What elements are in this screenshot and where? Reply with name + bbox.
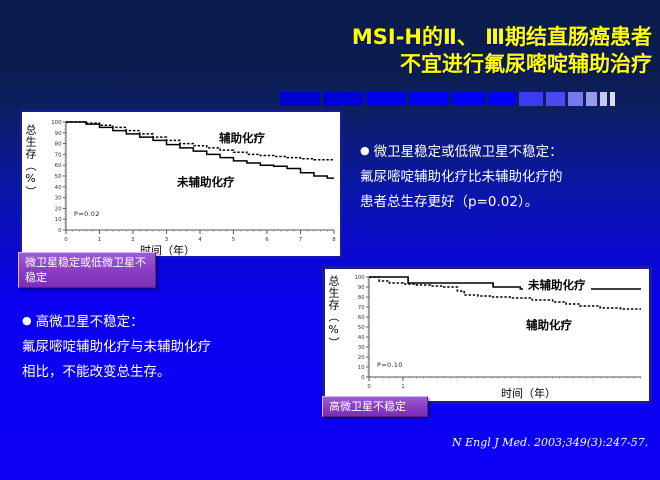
- chart2-axes: 010203040506070809010001: [355, 275, 641, 390]
- caption-tag-msi-stable: 微卫星稳定或低微卫星不稳定: [18, 252, 156, 288]
- svg-text:1: 1: [401, 384, 404, 390]
- svg-text:70: 70: [358, 305, 365, 311]
- bullet-dot-icon: ●: [22, 308, 32, 333]
- svg-text:70: 70: [55, 152, 62, 158]
- decor-block-1: [323, 92, 363, 106]
- svg-text:0: 0: [367, 384, 370, 390]
- svg-text:90: 90: [55, 131, 62, 137]
- bullet-right-line-2: 氟尿嘧啶辅助化疗比未辅助化疗的: [360, 165, 563, 190]
- bullet-left-line-2: 氟尿嘧啶辅助化疗与未辅助化疗: [22, 335, 211, 360]
- chart2-pvalue: P=0.10: [377, 361, 403, 369]
- svg-text:40: 40: [55, 185, 62, 191]
- chart2-legend-adjuvant: 辅助化疗: [521, 317, 577, 334]
- chart1-legend-adjuvant: 辅助化疗: [214, 130, 270, 147]
- bullet-dot-icon: ●: [360, 138, 370, 163]
- chart-panel-msi-stable: 0102030405060708090100012345678 总生存（%） 时…: [20, 110, 342, 258]
- bullet-msi-stable: ●微卫星稳定或低微卫星不稳定： 氟尿嘧啶辅助化疗比未辅助化疗的 患者总生存更好（…: [360, 138, 563, 215]
- chart1-series: [66, 122, 334, 178]
- svg-text:80: 80: [358, 295, 365, 301]
- chart2-svg: 010203040506070809010001: [325, 269, 649, 401]
- caption-tag-msi-high: 高微卫星不稳定: [322, 396, 428, 417]
- title-line-1: MSI-H的Ⅱ、 Ⅲ期结直肠癌患者: [280, 24, 652, 51]
- bullet-right-text-1: 微卫星稳定或低微卫星不稳定：: [374, 144, 563, 160]
- bullet-right-line-3: 患者总生存更好（p=0.02）。: [360, 190, 563, 215]
- chart2-plot: 010203040506070809010001: [325, 269, 649, 401]
- bullet-left-text-1: 高微卫星不稳定：: [36, 314, 144, 330]
- svg-text:5: 5: [232, 237, 235, 243]
- svg-text:80: 80: [55, 142, 62, 148]
- svg-text:10: 10: [55, 217, 62, 223]
- svg-text:10: 10: [358, 365, 365, 371]
- bullet-msi-high: ●高微卫星不稳定： 氟尿嘧啶辅助化疗与未辅助化疗 相比，不能改变总生存。: [22, 308, 211, 385]
- chart2-series: [369, 277, 641, 309]
- svg-text:4: 4: [198, 237, 202, 243]
- decor-block-7: [546, 92, 565, 106]
- bullet-left-line-1: ●高微卫星不稳定：: [22, 308, 211, 335]
- svg-text:2: 2: [131, 237, 134, 243]
- decor-block-2: [366, 92, 406, 106]
- slide-root: MSI-H的Ⅱ、 Ⅲ期结直肠癌患者 不宜进行氟尿嘧啶辅助治疗 010203040…: [0, 0, 660, 480]
- chart2-y-axis-title: 总生存（%）: [327, 275, 340, 379]
- svg-text:40: 40: [358, 335, 365, 341]
- svg-text:100: 100: [51, 120, 62, 126]
- svg-text:7: 7: [299, 237, 302, 243]
- chart2-x-axis-title: 时间（年）: [501, 385, 556, 401]
- svg-text:0: 0: [361, 375, 364, 381]
- page-title: MSI-H的Ⅱ、 Ⅲ期结直肠癌患者 不宜进行氟尿嘧啶辅助治疗: [280, 24, 652, 78]
- chart-panel-msi-high: 010203040506070809010001 总生存（%） 时间（年） P=…: [322, 266, 652, 404]
- chart2-legend-no-adjuvant: 未辅助化疗: [523, 277, 591, 294]
- svg-text:100: 100: [355, 275, 365, 281]
- svg-text:8: 8: [332, 237, 336, 243]
- c2-series-1: [369, 277, 641, 309]
- decor-block-4: [452, 92, 485, 106]
- chart1-y-axis-title: 总生存（%）: [24, 124, 37, 236]
- svg-text:0: 0: [64, 237, 68, 243]
- c1-series-1: [66, 122, 334, 178]
- svg-text:20: 20: [358, 355, 365, 361]
- citation: N Engl J Med. 2003;349(3):247-57.: [452, 436, 648, 449]
- decor-block-8: [568, 92, 583, 106]
- svg-text:20: 20: [55, 206, 62, 212]
- bullet-left-line-3: 相比，不能改变总生存。: [22, 360, 211, 385]
- chart1-pvalue: P=0.02: [74, 210, 100, 218]
- svg-text:90: 90: [358, 285, 365, 291]
- svg-text:6: 6: [265, 237, 269, 243]
- svg-text:50: 50: [55, 174, 62, 180]
- decor-block-6: [519, 92, 543, 106]
- decor-block-11: [610, 92, 615, 106]
- svg-text:0: 0: [58, 228, 62, 234]
- bullet-right-line-1: ●微卫星稳定或低微卫星不稳定：: [360, 138, 563, 165]
- decor-block-10: [600, 92, 607, 106]
- decor-block-3: [409, 92, 449, 106]
- decorative-block-bar: [280, 92, 652, 106]
- svg-text:1: 1: [98, 237, 101, 243]
- svg-text:50: 50: [358, 325, 365, 331]
- svg-text:60: 60: [358, 315, 365, 321]
- c2-series-0: [369, 277, 641, 289]
- title-line-2: 不宜进行氟尿嘧啶辅助治疗: [280, 51, 652, 78]
- svg-text:30: 30: [358, 345, 365, 351]
- decor-block-0: [280, 92, 320, 106]
- svg-text:60: 60: [55, 163, 62, 169]
- decor-block-5: [488, 92, 516, 106]
- chart1-legend-no-adjuvant: 未辅助化疗: [172, 174, 240, 191]
- svg-text:30: 30: [55, 196, 62, 202]
- decor-block-9: [586, 92, 597, 106]
